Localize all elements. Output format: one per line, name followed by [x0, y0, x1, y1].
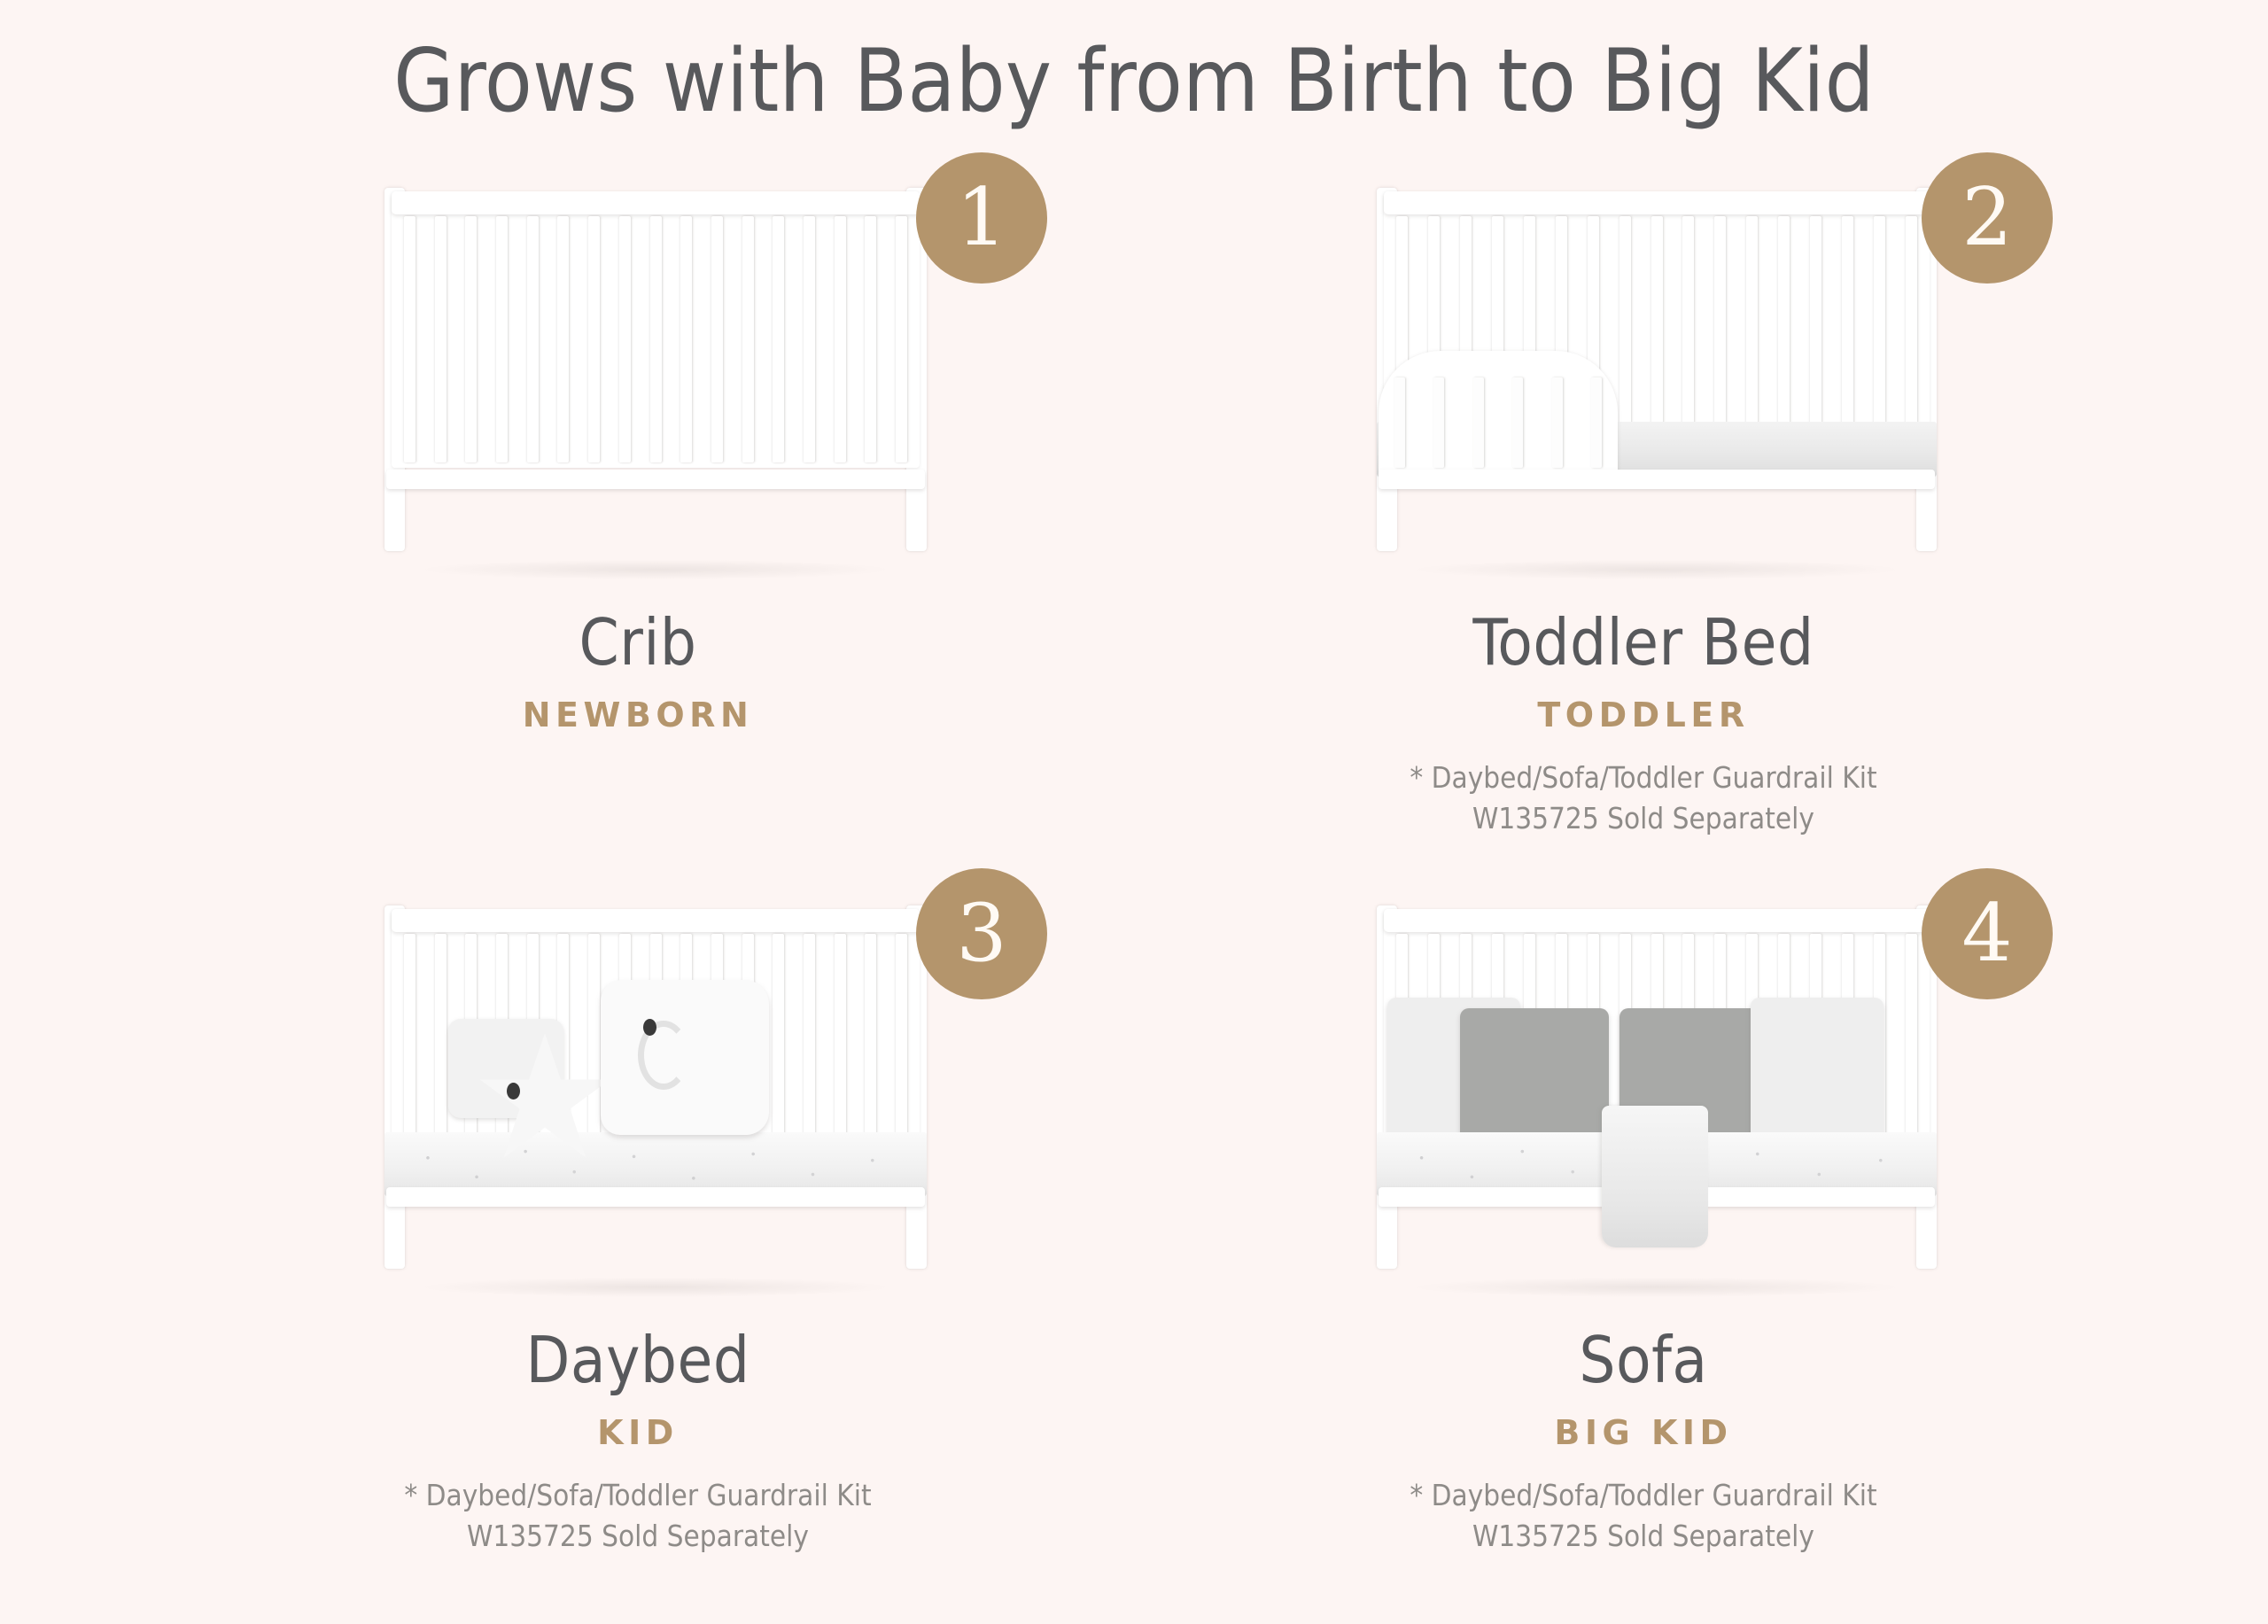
daybed-floor-shadow: [425, 1278, 886, 1297]
badge-number-3: 3: [916, 868, 1047, 999]
guardrail-slat: [1552, 377, 1563, 468]
sofa-throw-blanket: [1602, 1106, 1708, 1247]
moon-pillow: [601, 980, 769, 1135]
daybed-footnote-line-2: W135725 Sold Separately: [115, 1516, 1161, 1557]
crib-slat: [865, 216, 876, 462]
stage-card-crib[interactable]: 1: [115, 168, 1161, 734]
badge-number-2: 2: [1922, 152, 2053, 284]
sofa-floor-shadow: [1417, 1278, 1896, 1297]
stage-card-daybed[interactable]: 3: [115, 886, 1161, 1556]
sofa-name-label: Sofa: [1121, 1325, 2166, 1395]
daybed-footnote-line-1: * Daybed/Sofa/Toddler Guardrail Kit: [115, 1475, 1161, 1516]
toddler-bed-stage-label: TODDLER: [1121, 695, 2166, 734]
infographic-page: Grows with Baby from Birth to Big Kid 1: [0, 0, 2268, 1624]
daybed-base-rail: [386, 1187, 925, 1207]
toddler-bed-footnote: * Daybed/Sofa/Toddler Guardrail Kit W135…: [1121, 758, 2166, 838]
guardrail-slats: [1394, 377, 1602, 468]
stage-card-toddler-bed[interactable]: 2: [1121, 168, 2166, 838]
crib-base-rail: [386, 470, 925, 489]
crib-product-image: [372, 177, 939, 594]
crib-slat: [404, 216, 416, 462]
daybed-name-label: Daybed: [115, 1325, 1161, 1395]
guardrail-slat: [1591, 377, 1602, 468]
badge-number-4: 4: [1922, 868, 2053, 999]
crib-slat: [465, 216, 477, 462]
page-title: Grows with Baby from Birth to Big Kid: [0, 32, 2268, 132]
crib-slat: [711, 216, 723, 462]
stage-card-sofa[interactable]: 4: [1121, 886, 2166, 1556]
toddler-bed-footnote-line-2: W135725 Sold Separately: [1121, 798, 2166, 839]
guardrail-slat: [1394, 377, 1405, 468]
crib-slat: [557, 216, 569, 462]
crib-slat: [619, 216, 631, 462]
sofa-footnote-line-1: * Daybed/Sofa/Toddler Guardrail Kit: [1121, 1475, 2166, 1516]
sofa-footnote: * Daybed/Sofa/Toddler Guardrail Kit W135…: [1121, 1475, 2166, 1556]
moon-pillow-eye: [643, 1019, 656, 1036]
daybed-illustration: [372, 895, 939, 1311]
crib-slat: [773, 216, 784, 462]
crib-top-rail: [392, 191, 920, 214]
daybed-product-image: [372, 895, 939, 1311]
toddler-guardrail-kit: [1379, 351, 1618, 475]
badge-number-1: 1: [916, 152, 1047, 284]
sofa-caption: Sofa BIG KID * Daybed/Sofa/Toddler Guard…: [1121, 1325, 2166, 1556]
daybed-stage-label: KID: [115, 1413, 1161, 1452]
guardrail-slat: [1473, 377, 1484, 468]
daybed-top-rail: [392, 909, 920, 932]
guardrail-slat: [1512, 377, 1523, 468]
stage-grid: 1: [0, 168, 2268, 1621]
toddler-bed-top-rail: [1384, 191, 1930, 214]
crib-slat: [650, 216, 662, 462]
guardrail-slat: [1433, 377, 1444, 468]
toddler-bed-base-rail: [1379, 470, 1935, 489]
sofa-top-rail: [1384, 909, 1930, 932]
sofa-photo-stage: 4: [1121, 886, 2166, 1320]
sofa-product-image: [1364, 895, 1949, 1311]
crib-slat: [680, 216, 692, 462]
daybed-photo-stage: 3: [115, 886, 1161, 1320]
crib-floor-shadow: [425, 560, 886, 579]
crib-slats: [404, 216, 907, 462]
crib-photo-stage: 1: [115, 168, 1161, 602]
toddler-bed-footnote-line-1: * Daybed/Sofa/Toddler Guardrail Kit: [1121, 758, 2166, 798]
sofa-illustration: [1364, 895, 1949, 1311]
crib-illustration: [372, 177, 939, 594]
star-pillow-eye: [507, 1083, 520, 1100]
crib-slat: [435, 216, 447, 462]
crib-stage-label: NEWBORN: [115, 695, 1161, 734]
crib-slat: [804, 216, 815, 462]
toddler-bed-caption: Toddler Bed TODDLER * Daybed/Sofa/Toddle…: [1121, 608, 2166, 838]
crib-slat: [588, 216, 600, 462]
crib-slat: [835, 216, 846, 462]
crib-headboard: [392, 191, 920, 468]
sofa-footnote-line-2: W135725 Sold Separately: [1121, 1516, 2166, 1557]
daybed-footnote: * Daybed/Sofa/Toddler Guardrail Kit W135…: [115, 1475, 1161, 1556]
crib-slat: [527, 216, 539, 462]
crib-slat: [496, 216, 508, 462]
sofa-stage-label: BIG KID: [1121, 1413, 2166, 1452]
crib-caption: Crib NEWBORN: [115, 608, 1161, 734]
toddler-bed-floor-shadow: [1417, 560, 1896, 579]
toddler-bed-photo-stage: 2: [1121, 168, 2166, 602]
crib-slat: [896, 216, 907, 462]
toddler-bed-name-label: Toddler Bed: [1121, 608, 2166, 678]
crib-slat: [742, 216, 754, 462]
crib-name-label: Crib: [115, 608, 1161, 678]
daybed-caption: Daybed KID * Daybed/Sofa/Toddler Guardra…: [115, 1325, 1161, 1556]
toddler-bed-illustration: [1364, 177, 1949, 594]
toddler-bed-product-image: [1364, 177, 1949, 594]
